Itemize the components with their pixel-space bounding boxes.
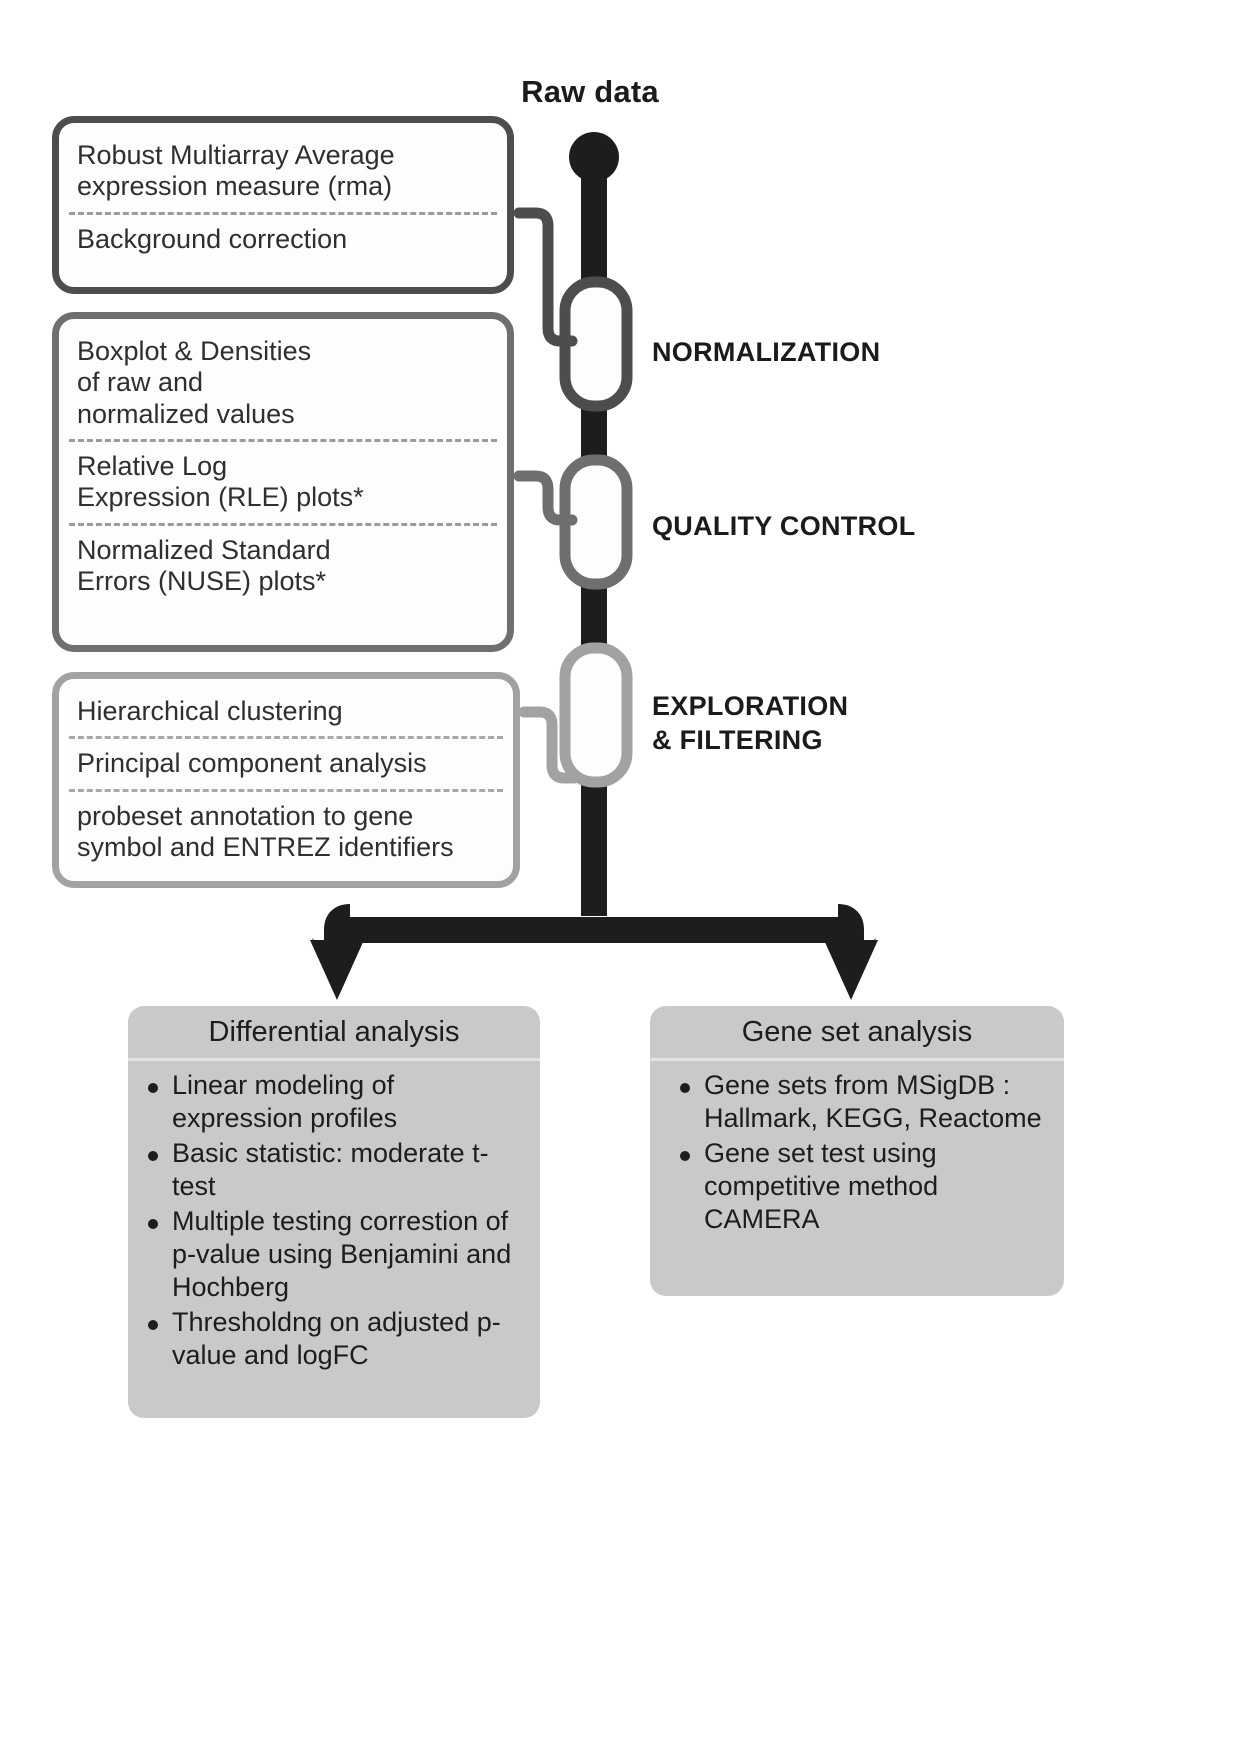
stage-node-normalization xyxy=(519,213,627,406)
page-title: Raw data xyxy=(440,74,740,110)
panel-item: Boxplot & Densities of raw and normalize… xyxy=(59,327,507,439)
card-bullet-list: Gene sets from MSigDB : Hallmark, KEGG, … xyxy=(650,1061,1064,1248)
stage-label-exploration-line1: EXPLORATION xyxy=(652,690,848,724)
panel-item: Relative Log Expression (RLE) plots* xyxy=(59,442,507,523)
stage-panel-exploration: Hierarchical clustering Principal compon… xyxy=(52,672,520,888)
list-item: Multiple testing correstion of p-value u… xyxy=(146,1205,524,1304)
bullet-icon xyxy=(148,1151,158,1161)
output-card-geneset: Gene set analysis Gene sets from MSigDB … xyxy=(650,1006,1064,1296)
list-item-text: Basic statistic: moderate t-test xyxy=(172,1138,489,1201)
branch-arrows xyxy=(310,884,878,1000)
card-bullet-list: Linear modeling of expression profiles B… xyxy=(128,1061,540,1383)
stage-node-exploration xyxy=(524,648,627,782)
panel-item: probeset annotation to gene symbol and E… xyxy=(59,792,513,873)
panel-item: Background correction xyxy=(59,215,507,264)
bullet-icon xyxy=(148,1320,158,1330)
panel-item: Principal component analysis xyxy=(59,739,513,788)
list-item: Linear modeling of expression profiles xyxy=(146,1069,524,1135)
list-item: Gene sets from MSigDB : Hallmark, KEGG, … xyxy=(678,1069,1048,1135)
bullet-icon xyxy=(680,1151,690,1161)
card-title: Differential analysis xyxy=(128,1006,540,1061)
stage-node-quality-control xyxy=(519,460,627,584)
bullet-icon xyxy=(680,1083,690,1093)
panel-item: Robust Multiarray Average expression mea… xyxy=(59,131,507,212)
stage-label-normalization: NORMALIZATION xyxy=(652,336,880,370)
list-item-text: Gene sets from MSigDB : Hallmark, KEGG, … xyxy=(704,1070,1042,1133)
list-item: Thresholdng on adjusted p-value and logF… xyxy=(146,1306,524,1372)
stage-label-exploration-line2: & FILTERING xyxy=(652,724,848,758)
bullet-icon xyxy=(148,1083,158,1093)
stage-panel-normalization: Robust Multiarray Average expression mea… xyxy=(52,116,514,294)
stage-label-exploration: EXPLORATION & FILTERING xyxy=(652,690,848,758)
stage-label-quality-control: QUALITY CONTROL xyxy=(652,510,916,544)
list-item-text: Gene set test using competitive method C… xyxy=(704,1138,938,1234)
list-item: Basic statistic: moderate t-test xyxy=(146,1137,524,1203)
list-item: Gene set test using competitive method C… xyxy=(678,1137,1048,1236)
workflow-diagram: Raw data Robust Multiarray Average expre… xyxy=(0,0,1240,1753)
list-item-text: Thresholdng on adjusted p-value and logF… xyxy=(172,1307,501,1370)
list-item-text: Linear modeling of expression profiles xyxy=(172,1070,397,1133)
panel-item: Normalized Standard Errors (NUSE) plots* xyxy=(59,526,507,607)
output-card-differential: Differential analysis Linear modeling of… xyxy=(128,1006,540,1418)
bullet-icon xyxy=(148,1219,158,1229)
card-title: Gene set analysis xyxy=(650,1006,1064,1061)
stage-panel-quality-control: Boxplot & Densities of raw and normalize… xyxy=(52,312,514,652)
main-spine xyxy=(569,132,619,894)
panel-item: Hierarchical clustering xyxy=(59,687,513,736)
list-item-text: Multiple testing correstion of p-value u… xyxy=(172,1206,511,1302)
